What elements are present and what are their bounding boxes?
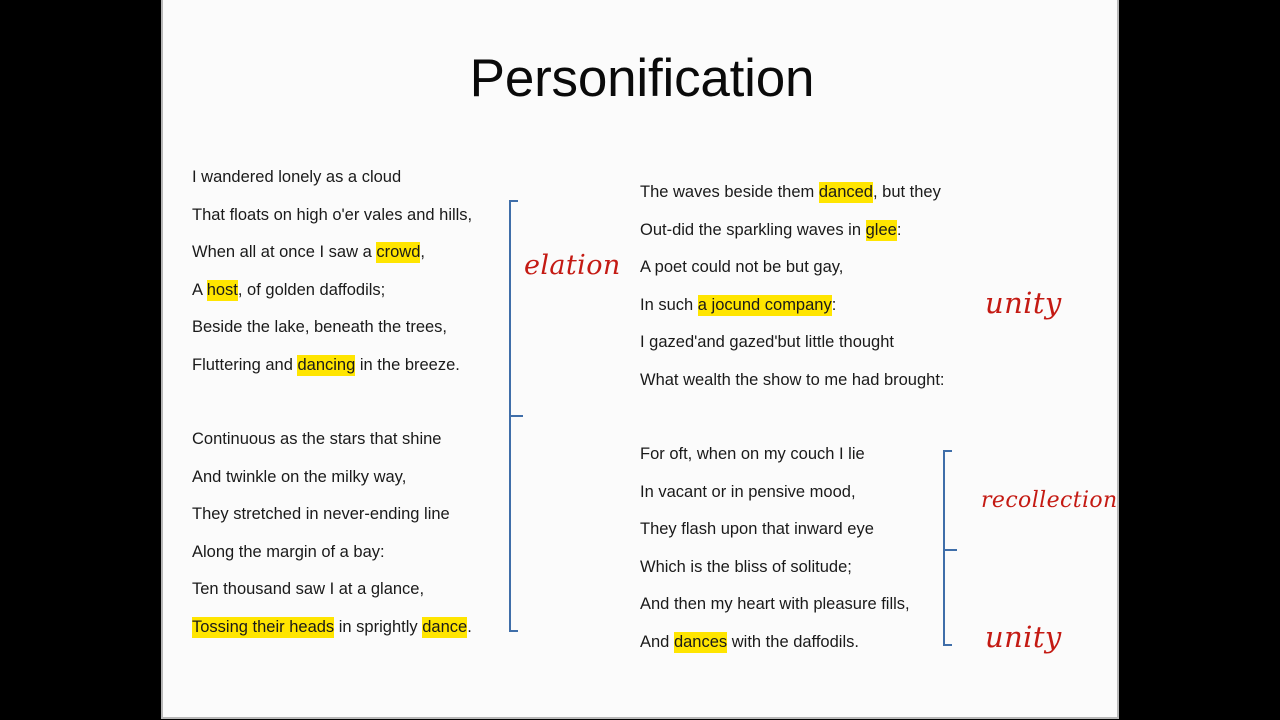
poem-text: Out-did the sparkling waves in [640,221,866,239]
poem-text: . [467,618,472,636]
poem-text: with the daffodils. [727,633,859,651]
poem-line: Along the margin of a bay: [192,534,472,572]
poem-line: Tossing their heads in sprightly dance. [192,609,472,647]
highlighted-text: dance [422,617,467,638]
poem-line: In vacant or in pensive mood, [640,474,910,512]
poem-text: , of golden daffodils; [238,281,385,299]
poem-text: : [897,221,902,239]
highlighted-text: dancing [297,355,355,376]
poem-stanza-2: Continuous as the stars that shineAnd tw… [192,421,472,646]
brace-midpoint-tick [943,549,957,551]
brace-cap-bottom [509,630,518,632]
poem-text: When all at once I saw a [192,243,376,261]
poem-stanza-3: The waves beside them danced, but theyOu… [640,174,945,399]
poem-line: A poet could not be but gay, [640,249,945,287]
slide-viewer: Personification I wandered lonely as a c… [0,0,1280,720]
poem-line: They stretched in never-ending line [192,496,472,534]
annotation-unity-top: unity [985,286,1062,320]
highlighted-text: a jocund company [698,295,832,316]
poem-text: They stretched in never-ending line [192,505,450,523]
poem-text: I wandered lonely as a cloud [192,168,401,186]
poem-line: In such a jocund company: [640,287,945,325]
poem-text: in the breeze. [355,356,460,374]
annotation-unity-bottom: unity [985,620,1062,654]
brace-right-stanza-4 [943,450,959,646]
highlighted-text: glee [866,220,897,241]
poem-line: And twinkle on the milky way, [192,459,472,497]
poem-text: In vacant or in pensive mood, [640,483,856,501]
poem-text: A poet could not be but gay, [640,258,843,276]
highlighted-text: Tossing their heads [192,617,334,638]
letterbox-bar-left [0,0,161,720]
poem-line: And dances with the daffodils. [640,624,910,662]
poem-text: : [832,296,837,314]
poem-line: Continuous as the stars that shine [192,421,472,459]
poem-text: , [420,243,425,261]
poem-line: The waves beside them danced, but they [640,174,945,212]
poem-stanza-4: For oft, when on my couch I lieIn vacant… [640,436,910,661]
poem-text: The waves beside them [640,183,819,201]
poem-line: And then my heart with pleasure fills, [640,586,910,624]
highlighted-text: dances [674,632,727,653]
poem-text: In such [640,296,698,314]
poem-line: Ten thousand saw I at a glance, [192,571,472,609]
poem-text: And [640,633,674,651]
poem-text: And twinkle on the milky way, [192,468,406,486]
poem-text: Continuous as the stars that shine [192,430,441,448]
poem-text: , but they [873,183,941,201]
poem-stanza-1: I wandered lonely as a cloudThat floats … [192,159,472,384]
brace-spine [943,450,945,646]
annotation-elation: elation [524,250,621,281]
poem-text: For oft, when on my couch I lie [640,445,865,463]
presentation-slide: Personification I wandered lonely as a c… [161,0,1119,719]
brace-left-stanzas [509,200,525,632]
brace-cap-bottom [943,644,952,646]
poem-text: Along the margin of a bay: [192,543,385,561]
letterbox-bar-right [1119,0,1280,720]
poem-line: What wealth the show to me had brought: [640,362,945,400]
poem-line: A host, of golden daffodils; [192,272,472,310]
poem-line: Beside the lake, beneath the trees, [192,309,472,347]
poem-line: I gazed'and gazed'but little thought [640,324,945,362]
poem-line: That floats on high o'er vales and hills… [192,197,472,235]
poem-line: Fluttering and dancing in the breeze. [192,347,472,385]
poem-text: They flash upon that inward eye [640,520,874,538]
poem-text: That floats on high o'er vales and hills… [192,206,472,224]
poem-line: Out-did the sparkling waves in glee: [640,212,945,250]
poem-line: For oft, when on my couch I lie [640,436,910,474]
poem-text: in sprightly [334,618,422,636]
poem-text: A [192,281,207,299]
highlighted-text: danced [819,182,873,203]
poem-line: When all at once I saw a crowd, [192,234,472,272]
poem-line: Which is the bliss of solitude; [640,549,910,587]
poem-text: Which is the bliss of solitude; [640,558,852,576]
highlighted-text: crowd [376,242,420,263]
page-title: Personification [163,50,1119,108]
poem-line: I wandered lonely as a cloud [192,159,472,197]
highlighted-text: host [207,280,238,301]
poem-line: They flash upon that inward eye [640,511,910,549]
brace-cap-top [509,200,518,202]
poem-text: And then my heart with pleasure fills, [640,595,910,613]
brace-midpoint-tick [509,415,523,417]
poem-text: Beside the lake, beneath the trees, [192,318,447,336]
poem-text: What wealth the show to me had brought: [640,371,945,389]
poem-text: I gazed'and gazed'but little thought [640,333,894,351]
annotation-recollection: recollection [981,488,1118,513]
brace-cap-top [943,450,952,452]
poem-text: Ten thousand saw I at a glance, [192,580,424,598]
poem-text: Fluttering and [192,356,297,374]
